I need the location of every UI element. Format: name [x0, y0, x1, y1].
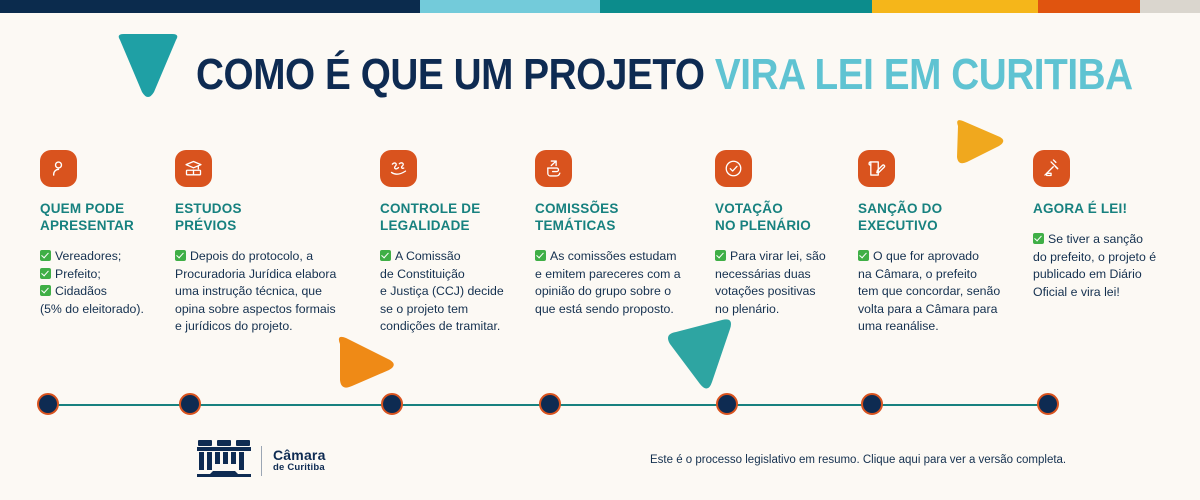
- step-body-7: Se tiver a sançãodo prefeito, o projeto …: [1033, 231, 1175, 301]
- step-6-line-4: volta para a Câmara para: [858, 301, 1023, 319]
- hand-document-icon: [535, 150, 572, 187]
- timeline-dot-4[interactable]: [539, 393, 561, 415]
- title-part-one: COMO É QUE UM PROJETO: [196, 50, 705, 99]
- check-icon: [380, 250, 391, 261]
- sign-document-icon: [858, 150, 895, 187]
- timeline-dot-5[interactable]: [716, 393, 738, 415]
- step-body-3: A Comissãode Constituiçãoe Justiça (CCJ)…: [380, 248, 520, 336]
- step-2-line-3: uma instrução técnica, que: [175, 283, 353, 301]
- step-column-4: COMISSÕES TEMÁTICASAs comissões estudame…: [535, 150, 703, 318]
- step-3-line-1: A Comissão: [380, 248, 520, 266]
- step-6-line-3: tem que concordar, senão: [858, 283, 1023, 301]
- step-4-line-4: que está sendo proposto.: [535, 301, 703, 319]
- step-column-6: SANÇÃO DO EXECUTIVOO que for aprovadona …: [858, 150, 1023, 336]
- step-4-line-3: opinião do grupo sobre o: [535, 283, 703, 301]
- step-3-line-4: se o projeto tem: [380, 301, 520, 319]
- page-title: COMO É QUE UM PROJETO VIRA LEI EM CURITI…: [196, 52, 1133, 98]
- orange-triangle-decoration-left: [334, 334, 396, 390]
- step-body-4: As comissões estudame emitem pareceres c…: [535, 248, 703, 318]
- timeline-dot-7[interactable]: [1037, 393, 1059, 415]
- step-3-line-2: de Constituição: [380, 266, 520, 284]
- person-icon: [40, 150, 77, 187]
- logo-text: Câmara de Curitiba: [273, 448, 326, 473]
- topbar-segment-light-cyan: [420, 0, 600, 13]
- topbar-segment-teal: [600, 0, 872, 13]
- step-1-line-3: Cidadãos: [40, 283, 168, 301]
- top-color-bar: [0, 0, 1200, 13]
- step-6-line-5: uma reanálise.: [858, 318, 1023, 336]
- step-title-1: QUEM PODE APRESENTAR: [40, 200, 168, 234]
- step-title-4: COMISSÕES TEMÁTICAS: [535, 200, 703, 234]
- step-6-line-1: O que for aprovado: [858, 248, 1023, 266]
- step-1-line-1: Vereadores;: [40, 248, 168, 266]
- timeline-dot-3[interactable]: [381, 393, 403, 415]
- step-title-3: CONTROLE DE LEGALIDADE: [380, 200, 520, 234]
- step-body-2: Depois do protocolo, aProcuradoria Juríd…: [175, 248, 353, 336]
- check-icon: [858, 250, 869, 261]
- step-title-2: ESTUDOS PRÉVIOS: [175, 200, 353, 234]
- step-4-line-2: e emitem pareceres com a: [535, 266, 703, 284]
- step-5-line-3: votações positivas: [715, 283, 847, 301]
- step-2-line-4: opina sobre aspectos formais: [175, 301, 353, 319]
- teal-triangle-down-decoration: [112, 34, 184, 102]
- step-7-line-1: Se tiver a sanção: [1033, 231, 1175, 249]
- step-7-line-2: do prefeito, o projeto é: [1033, 249, 1175, 267]
- step-2-line-1: Depois do protocolo, a: [175, 248, 353, 266]
- camara-building-icon: [196, 438, 252, 483]
- topbar-segment-orange: [1038, 0, 1140, 13]
- step-body-5: Para virar lei, sãonecessárias duasvotaç…: [715, 248, 847, 318]
- logo-line-one: Câmara: [273, 448, 326, 463]
- step-5-line-2: necessárias duas: [715, 266, 847, 284]
- logo-divider: [261, 446, 262, 476]
- topbar-segment-gold: [872, 0, 1038, 13]
- step-2-line-5: e jurídicos do projeto.: [175, 318, 353, 336]
- step-4-line-1: As comissões estudam: [535, 248, 703, 266]
- logo-line-two: de Curitiba: [273, 463, 326, 473]
- step-column-3: CONTROLE DE LEGALIDADEA Comissãode Const…: [380, 150, 520, 336]
- step-5-line-4: no plenário.: [715, 301, 847, 319]
- step-title-7: AGORA É LEI!: [1033, 200, 1175, 217]
- footer-note[interactable]: Este é o processo legislativo em resumo.…: [650, 454, 1066, 466]
- step-title-5: VOTAÇÃO NO PLENÁRIO: [715, 200, 847, 234]
- check-icon: [715, 250, 726, 261]
- step-3-line-3: e Justiça (CCJ) decide: [380, 283, 520, 301]
- step-body-6: O que for aprovadona Câmara, o prefeitot…: [858, 248, 1023, 336]
- step-1-line-4: (5% do eleitorado).: [40, 301, 168, 319]
- step-3-line-5: condições de tramitar.: [380, 318, 520, 336]
- gavel-icon: [1033, 150, 1070, 187]
- check-icon: [40, 268, 51, 279]
- step-7-line-4: Oficial e vira lei!: [1033, 284, 1175, 302]
- check-icon: [40, 285, 51, 296]
- topbar-segment-light-gray: [1140, 0, 1200, 13]
- step-title-6: SANÇÃO DO EXECUTIVO: [858, 200, 1023, 234]
- camara-logo[interactable]: Câmara de Curitiba: [196, 438, 326, 483]
- infographic-page: COMO É QUE UM PROJETO VIRA LEI EM CURITI…: [0, 0, 1200, 500]
- step-column-5: VOTAÇÃO NO PLENÁRIOPara virar lei, sãone…: [715, 150, 847, 318]
- check-icon: [535, 250, 546, 261]
- title-part-two: VIRA LEI EM CURITIBA: [715, 50, 1133, 99]
- step-column-7: AGORA É LEI!Se tiver a sançãodo prefeito…: [1033, 150, 1175, 301]
- graduation-book-icon: [175, 150, 212, 187]
- step-5-line-1: Para virar lei, são: [715, 248, 847, 266]
- step-1-line-2: Prefeito;: [40, 266, 168, 284]
- teal-triangle-decoration-center: [660, 312, 736, 392]
- timeline-dot-6[interactable]: [861, 393, 883, 415]
- timeline-dot-1[interactable]: [37, 393, 59, 415]
- balance-scale-icon: [380, 150, 417, 187]
- step-6-line-2: na Câmara, o prefeito: [858, 266, 1023, 284]
- check-circle-icon: [715, 150, 752, 187]
- check-icon: [1033, 233, 1044, 244]
- step-2-line-2: Procuradoria Jurídica elabora: [175, 266, 353, 284]
- step-column-1: QUEM PODE APRESENTARVereadores;Prefeito;…: [40, 150, 168, 318]
- check-icon: [40, 250, 51, 261]
- topbar-segment-navy: [0, 0, 420, 13]
- timeline-dot-2[interactable]: [179, 393, 201, 415]
- check-icon: [175, 250, 186, 261]
- step-7-line-3: publicado em Diário: [1033, 266, 1175, 284]
- step-body-1: Vereadores;Prefeito;Cidadãos(5% do eleit…: [40, 248, 168, 318]
- step-column-2: ESTUDOS PRÉVIOSDepois do protocolo, aPro…: [175, 150, 353, 336]
